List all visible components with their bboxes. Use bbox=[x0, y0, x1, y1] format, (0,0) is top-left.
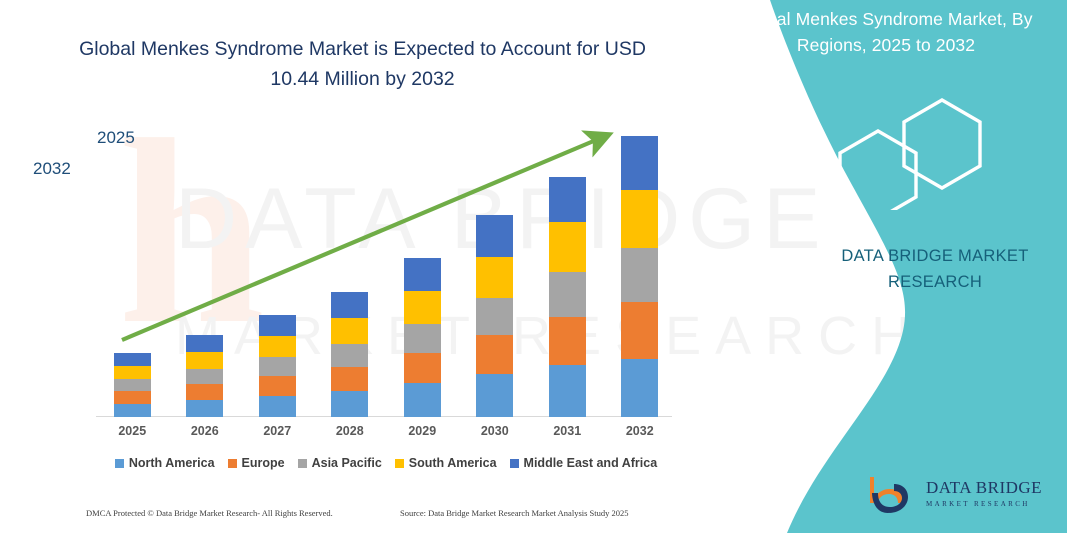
legend-label: Europe bbox=[242, 456, 285, 470]
x-axis-label: 2025 bbox=[96, 424, 169, 438]
stacked-bar bbox=[259, 315, 296, 417]
bar-segment bbox=[331, 391, 368, 417]
bar-segment bbox=[621, 359, 658, 417]
bar-segment bbox=[331, 367, 368, 391]
panel-brand-line-1: DATA BRIDGE MARKET bbox=[800, 243, 1067, 269]
stacked-bar bbox=[621, 136, 658, 417]
infographic-root: h DATA BRIDGE MARKET RESEARCH Global Men… bbox=[0, 0, 1067, 533]
bar-column bbox=[314, 120, 387, 417]
bar-segment bbox=[114, 404, 151, 417]
bar-segment bbox=[331, 318, 368, 344]
x-axis-label: 2031 bbox=[531, 424, 604, 438]
legend-item[interactable]: Asia Pacific bbox=[298, 456, 382, 470]
legend-item[interactable]: Europe bbox=[228, 456, 285, 470]
footer-source: Source: Data Bridge Market Research Mark… bbox=[400, 508, 629, 518]
bar-segment bbox=[186, 369, 223, 384]
bar-segment bbox=[621, 136, 658, 190]
bar-column bbox=[604, 120, 677, 417]
legend-swatch-icon bbox=[115, 459, 124, 468]
bar-segment bbox=[404, 291, 441, 324]
bar-group bbox=[96, 120, 676, 417]
footer-copyright: DMCA Protected © Data Bridge Market Rese… bbox=[86, 508, 333, 518]
legend-label: Asia Pacific bbox=[312, 456, 382, 470]
bar-segment bbox=[549, 177, 586, 222]
x-axis-label: 2028 bbox=[314, 424, 387, 438]
bar-segment bbox=[259, 336, 296, 357]
legend-swatch-icon bbox=[395, 459, 404, 468]
bar-segment bbox=[476, 215, 513, 257]
stacked-bar bbox=[114, 353, 151, 417]
logo-title: DATA BRIDGE bbox=[926, 478, 1042, 497]
legend-label: North America bbox=[129, 456, 215, 470]
legend-item[interactable]: Middle East and Africa bbox=[510, 456, 658, 470]
chart-legend: North AmericaEuropeAsia PacificSouth Ame… bbox=[96, 456, 676, 470]
bar-segment bbox=[549, 317, 586, 365]
x-axis-label: 2027 bbox=[241, 424, 314, 438]
bar-segment bbox=[549, 272, 586, 317]
bar-column bbox=[169, 120, 242, 417]
x-axis-label: 2030 bbox=[459, 424, 532, 438]
bar-segment bbox=[621, 190, 658, 248]
bar-segment bbox=[404, 353, 441, 383]
bar-segment bbox=[621, 302, 658, 359]
legend-swatch-icon bbox=[228, 459, 237, 468]
bar-column bbox=[459, 120, 532, 417]
legend-swatch-icon bbox=[298, 459, 307, 468]
x-axis-label: 2029 bbox=[386, 424, 459, 438]
bar-segment bbox=[549, 222, 586, 272]
legend-swatch-icon bbox=[510, 459, 519, 468]
stacked-bar bbox=[549, 177, 586, 417]
bar-segment bbox=[476, 298, 513, 335]
data-bridge-logo: DATA BRIDGE MARKET RESEARCH bbox=[868, 473, 1048, 521]
bar-segment bbox=[331, 292, 368, 318]
bar-segment bbox=[404, 383, 441, 417]
stacked-bar-chart: 20252026202720282029203020312032 North A… bbox=[0, 0, 700, 533]
legend-item[interactable]: South America bbox=[395, 456, 497, 470]
bar-segment bbox=[259, 357, 296, 376]
bar-column bbox=[386, 120, 459, 417]
bar-segment bbox=[186, 335, 223, 352]
bar-segment bbox=[114, 391, 151, 404]
bar-segment bbox=[621, 248, 658, 302]
bar-segment bbox=[186, 400, 223, 417]
bar-segment bbox=[404, 258, 441, 291]
x-axis-label: 2032 bbox=[604, 424, 677, 438]
footer: DMCA Protected © Data Bridge Market Rese… bbox=[0, 505, 700, 527]
bar-column bbox=[531, 120, 604, 417]
bar-segment bbox=[259, 315, 296, 336]
bar-segment bbox=[476, 374, 513, 417]
panel-title: Global Menkes Syndrome Market, By Region… bbox=[714, 6, 1058, 58]
x-axis-label: 2026 bbox=[169, 424, 242, 438]
panel-brand-text: DATA BRIDGE MARKET RESEARCH bbox=[800, 243, 1067, 295]
panel-brand-line-2: RESEARCH bbox=[800, 269, 1067, 295]
bar-segment bbox=[476, 335, 513, 374]
legend-item[interactable]: North America bbox=[115, 456, 215, 470]
bar-segment bbox=[259, 376, 296, 396]
x-axis-labels: 20252026202720282029203020312032 bbox=[96, 424, 676, 438]
logo-subtitle: MARKET RESEARCH bbox=[926, 500, 1030, 508]
bar-segment bbox=[114, 366, 151, 379]
bar-segment bbox=[186, 384, 223, 400]
logo-mark bbox=[870, 477, 908, 513]
bar-segment bbox=[186, 352, 223, 369]
bar-segment bbox=[404, 324, 441, 353]
bar-segment bbox=[259, 396, 296, 417]
stacked-bar bbox=[476, 215, 513, 417]
bar-segment bbox=[331, 344, 368, 367]
legend-label: Middle East and Africa bbox=[524, 456, 658, 470]
bar-segment bbox=[549, 365, 586, 417]
stacked-bar bbox=[331, 292, 368, 417]
plot-area bbox=[96, 120, 676, 417]
bar-column bbox=[96, 120, 169, 417]
stacked-bar bbox=[404, 258, 441, 417]
bar-segment bbox=[114, 353, 151, 366]
bar-segment bbox=[114, 379, 151, 391]
legend-label: South America bbox=[409, 456, 497, 470]
hexagon-badges bbox=[820, 95, 1000, 210]
stacked-bar bbox=[186, 335, 223, 417]
bar-column bbox=[241, 120, 314, 417]
bar-segment bbox=[476, 257, 513, 298]
